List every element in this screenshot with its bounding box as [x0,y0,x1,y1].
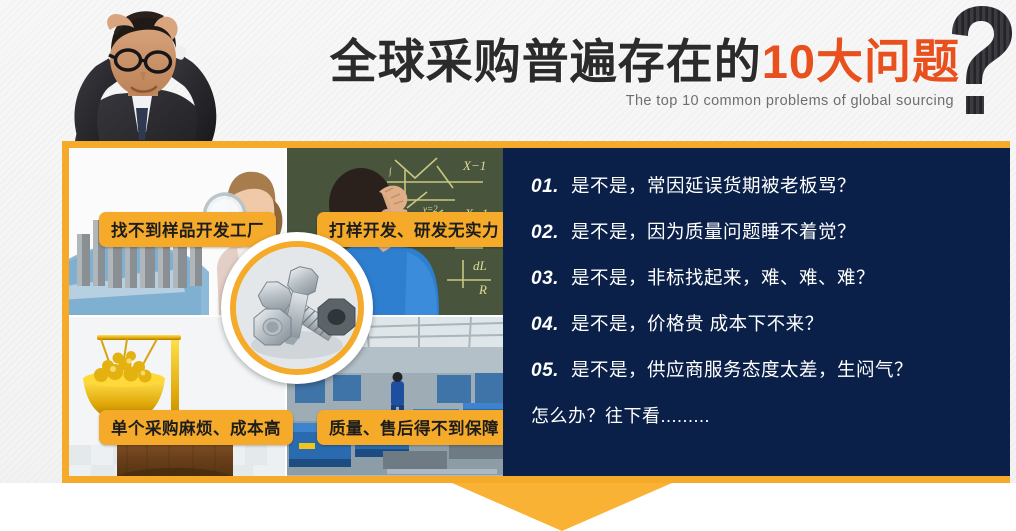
main-panel: X−1 X−1 R dL R ∫ y=2 [62,141,1010,483]
closing-text: 怎么办？往下看......... [531,402,1010,428]
svg-text:dL: dL [473,258,487,273]
collage-caption-quality-aftersales: 质量、售后得不到保障 [317,410,503,445]
problems-panel: 01. 是不是，常因延误货期被老板骂？ 02. 是不是，因为质量问题睡不着觉？ … [509,148,1010,483]
problem-row: 04. 是不是，价格贵 成本下不来？ [531,310,1010,336]
svg-text:X−1: X−1 [462,158,486,173]
bolts-badge-ring [230,241,364,375]
header: 全球采购普遍存在的10大问题 The top 10 common problem… [0,0,1016,140]
problem-text: 是不是，价格贵 成本下不来？ [571,310,824,336]
svg-text:R: R [478,282,487,297]
page-title: 全球采购普遍存在的10大问题 [330,38,960,85]
problem-text: 是不是，供应商服务态度太差，生闷气？ [571,356,913,382]
problem-row: 03. 是不是，非标找起来，难、难、难？ [531,264,1010,290]
problem-row: 02. 是不是，因为质量问题睡不着觉？ [531,218,1010,244]
problem-number: 04. [531,314,571,336]
bolts-and-nuts-icon [236,247,358,369]
problem-text: 是不是，常因延误货期被老板骂？ [571,172,856,198]
problem-text: 是不是，因为质量问题睡不着觉？ [571,218,856,244]
bottom-accent-bar [62,476,1010,483]
problem-number: 05. [531,360,571,382]
title-dark-part: 全球采购普遍存在的 [330,35,762,88]
problem-text: 是不是，非标找起来，难、难、难？ [571,264,875,290]
problem-row: 01. 是不是，常因延误货期被老板骂？ [531,172,1010,198]
collage-caption-sample-factory: 找不到样品开发工厂 [99,212,276,247]
page-subtitle: The top 10 common problems of global sou… [330,94,960,109]
down-arrow-icon [452,483,672,531]
problem-number: 02. [531,222,571,244]
collage-caption-rnd-capability: 打样开发、研发无实力 [317,212,503,247]
title-orange-part: 10大问题 [762,35,960,88]
bolts-badge [221,232,373,384]
collage-caption-single-purchase-cost: 单个采购麻烦、成本高 [99,410,293,445]
photo-collage: X−1 X−1 R dL R ∫ y=2 [69,148,503,483]
title-block: 全球采购普遍存在的10大问题 The top 10 common problem… [330,38,960,109]
problem-number: 03. [531,268,571,290]
problem-row: 05. 是不是，供应商服务态度太差，生闷气？ [531,356,1010,382]
problem-number: 01. [531,176,571,198]
